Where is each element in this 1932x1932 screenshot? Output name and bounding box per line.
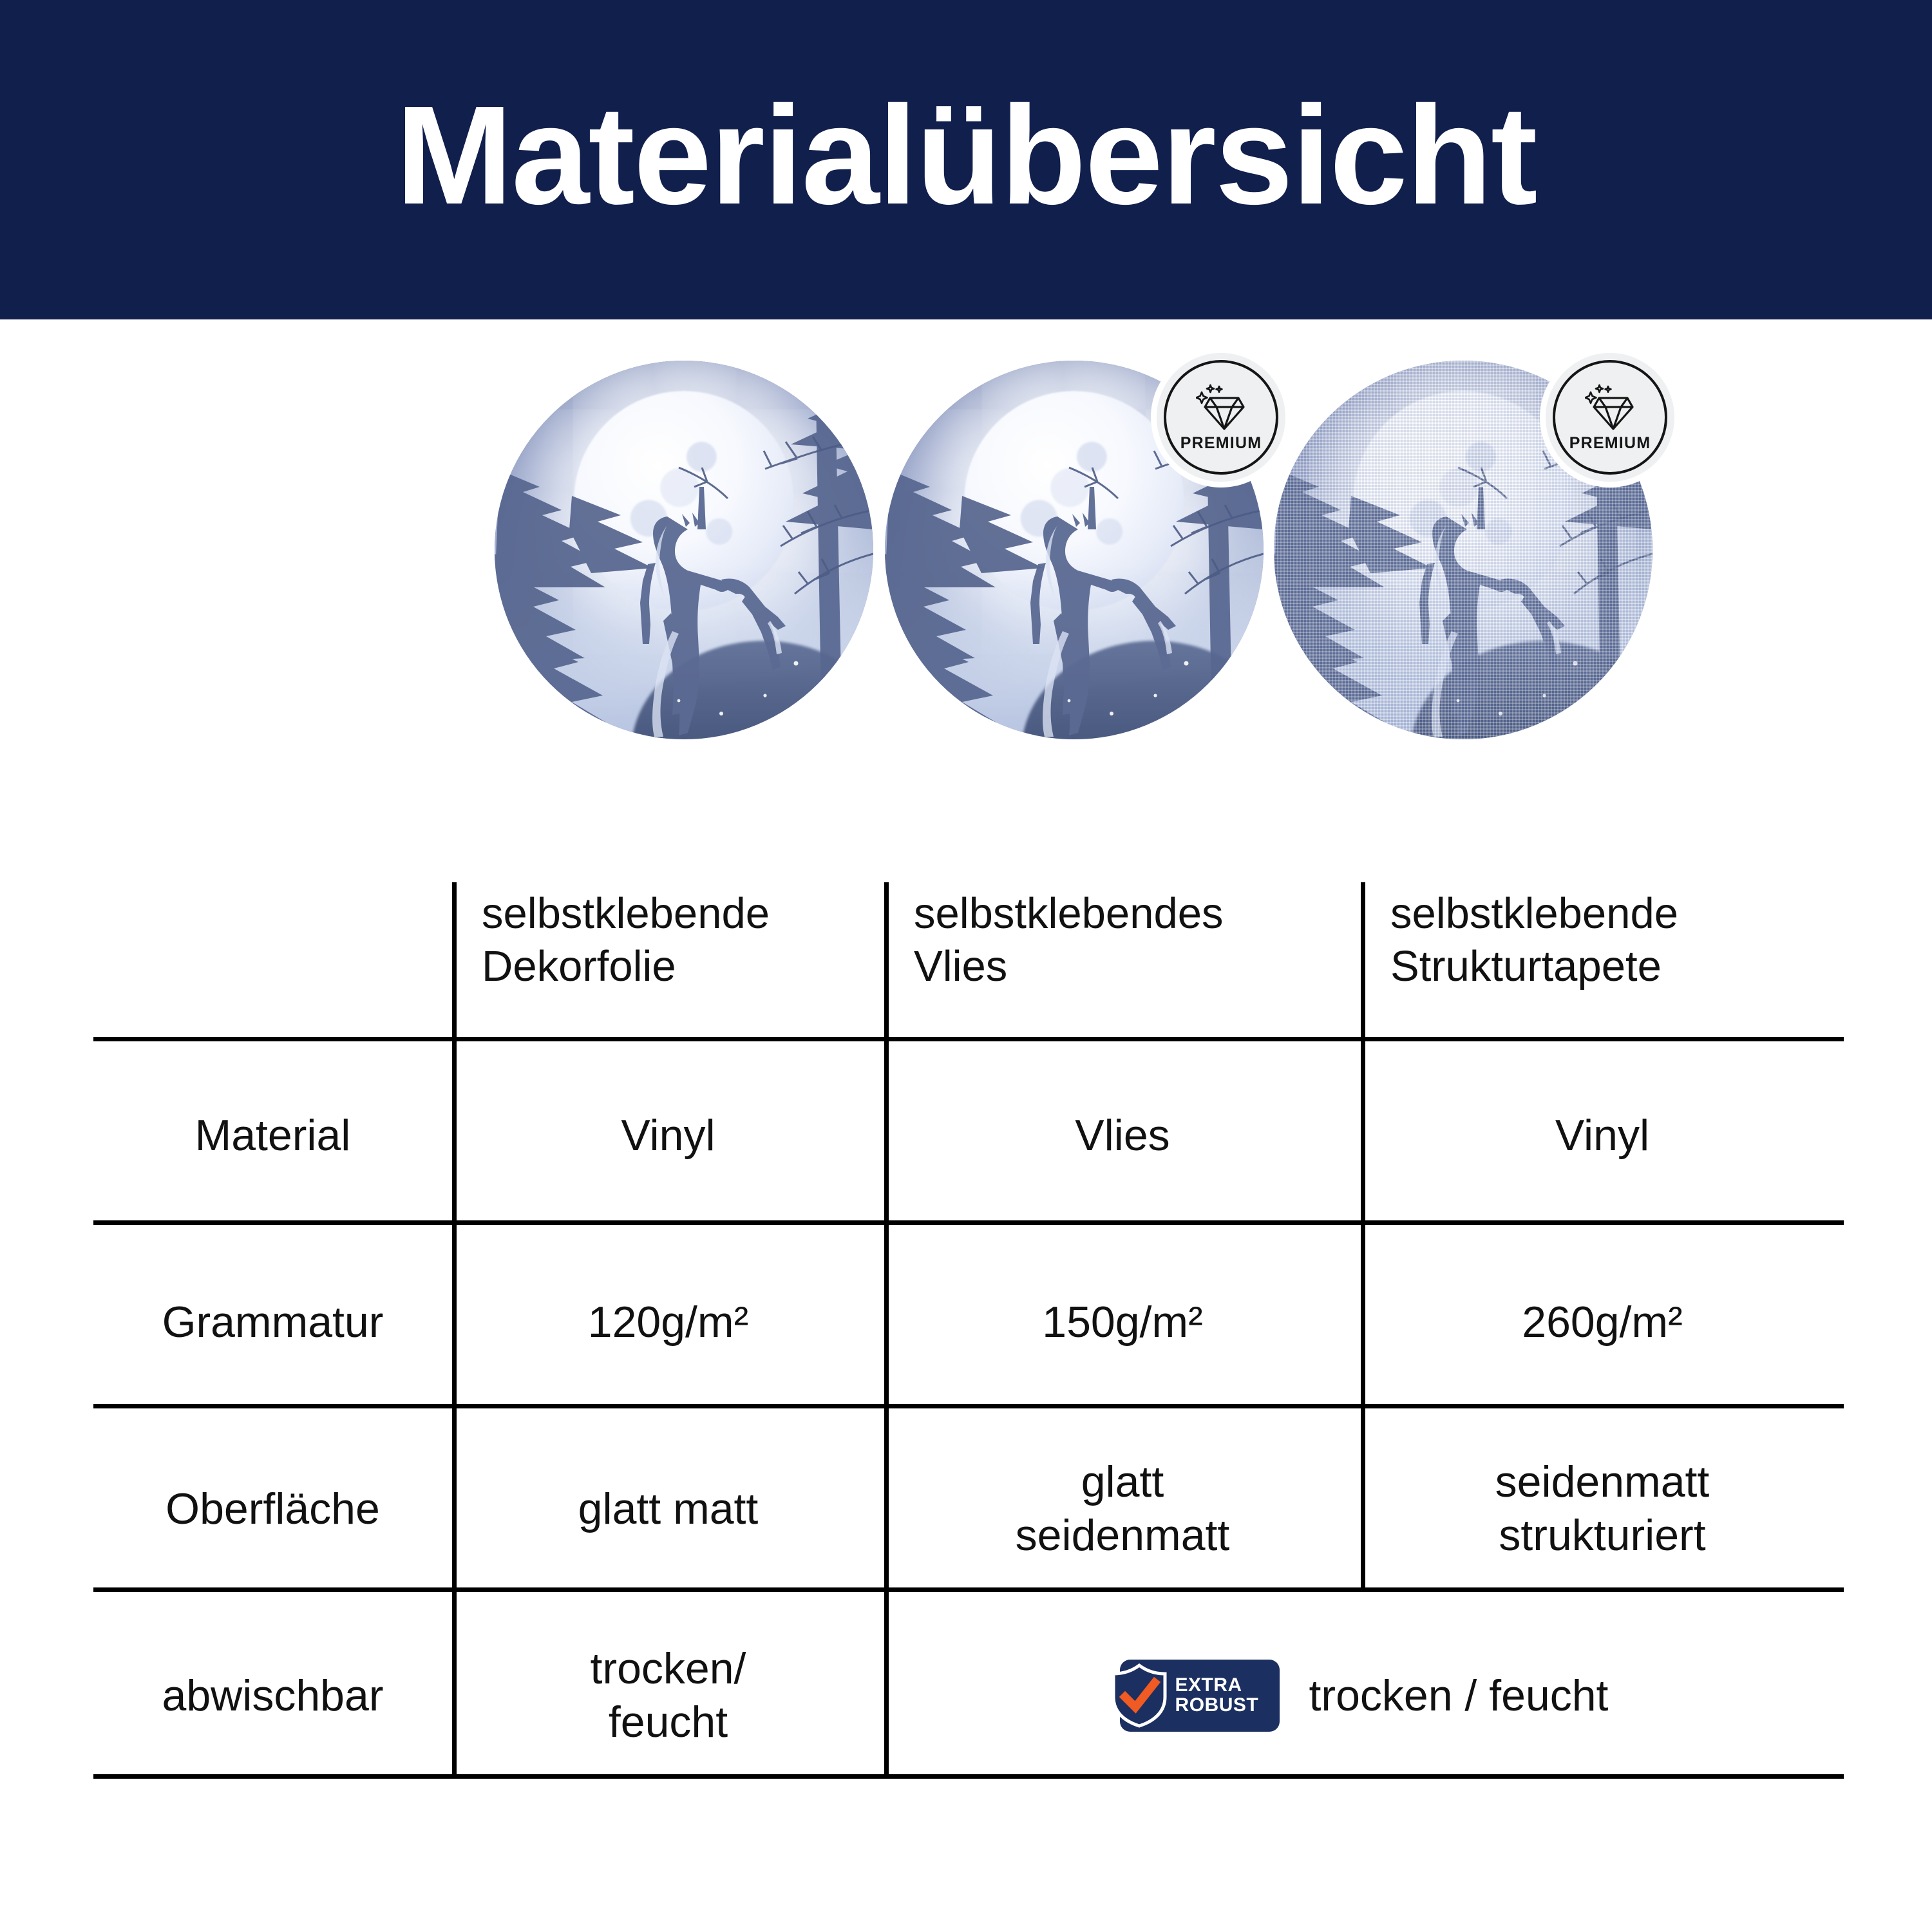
column-divider-1 bbox=[452, 882, 457, 1774]
row-divider-2 bbox=[93, 1404, 1844, 1408]
table-row-material: Material Vinyl Vlies Vinyl bbox=[93, 1042, 1844, 1229]
extra-robust-badge: EXTRA ROBUST bbox=[1120, 1660, 1280, 1732]
premium-badge-label: PREMIUM bbox=[1180, 435, 1262, 451]
row-divider-1 bbox=[93, 1220, 1844, 1225]
column-divider-2 bbox=[884, 882, 889, 1774]
cell-abwischbar-merged: EXTRA ROBUST trocken / feucht bbox=[884, 1602, 1844, 1789]
table-row-oberflaeche: Oberfläche glatt matt glatt seidenmatt s… bbox=[93, 1416, 1844, 1602]
row-divider-3 bbox=[93, 1587, 1844, 1592]
row-label-grammatur: Grammatur bbox=[93, 1229, 452, 1416]
extra-robust-line1: EXTRA bbox=[1175, 1676, 1259, 1696]
material-swatch-strukturtapete[interactable]: PREMIUM bbox=[1274, 361, 1653, 739]
page-header: Materialübersicht bbox=[0, 0, 1932, 319]
cell-grammatur-dekorfolie: 120g/m² bbox=[452, 1229, 884, 1416]
table-header-blank bbox=[93, 882, 452, 1042]
cell-material-strukturtapete: Vinyl bbox=[1361, 1042, 1844, 1229]
premium-badge-label: PREMIUM bbox=[1569, 435, 1651, 451]
cell-oberflaeche-vlies: glatt seidenmatt bbox=[884, 1416, 1361, 1602]
cell-material-vlies: Vlies bbox=[884, 1042, 1361, 1229]
table-header-strukturtapete: selbstklebende Strukturtapete bbox=[1361, 882, 1844, 1042]
premium-badge: PREMIUM bbox=[1157, 353, 1285, 482]
material-swatch-vlies[interactable]: PREMIUM bbox=[885, 361, 1264, 739]
row-divider-header bbox=[93, 1037, 1844, 1041]
material-overview-page: Materialübersicht bbox=[0, 0, 1932, 1932]
shield-check-icon bbox=[1110, 1663, 1169, 1728]
page-title: Materialübersicht bbox=[395, 86, 1536, 226]
row-label-oberflaeche: Oberfläche bbox=[93, 1416, 452, 1602]
table-header-vlies: selbstklebendes Vlies bbox=[884, 882, 1361, 1042]
material-swatch-row: PREMIUM bbox=[0, 361, 1932, 747]
row-divider-bottom bbox=[93, 1774, 1844, 1779]
cell-grammatur-strukturtapete: 260g/m² bbox=[1361, 1229, 1844, 1416]
material-spec-table: selbstklebende Dekorfolie selbstklebende… bbox=[93, 882, 1844, 1789]
material-swatch-dekorfolie[interactable] bbox=[495, 361, 873, 739]
cell-material-dekorfolie: Vinyl bbox=[452, 1042, 884, 1229]
table-row-abwischbar: abwischbar trocken/ feucht EXTRA bbox=[93, 1602, 1844, 1789]
table-header-row: selbstklebende Dekorfolie selbstklebende… bbox=[93, 882, 1844, 1042]
table-row-grammatur: Grammatur 120g/m² 150g/m² 260g/m² bbox=[93, 1229, 1844, 1416]
forest-and-unicorn-silhouette bbox=[495, 361, 873, 739]
column-divider-3 bbox=[1361, 882, 1365, 1587]
row-label-abwischbar: abwischbar bbox=[93, 1602, 452, 1789]
extra-robust-line2: ROBUST bbox=[1175, 1696, 1259, 1716]
cell-abwischbar-dekorfolie: trocken/ feucht bbox=[452, 1602, 884, 1789]
cell-grammatur-vlies: 150g/m² bbox=[884, 1229, 1361, 1416]
cell-oberflaeche-dekorfolie: glatt matt bbox=[452, 1416, 884, 1602]
unicorn-moon-image bbox=[495, 361, 873, 739]
table-header-dekorfolie: selbstklebende Dekorfolie bbox=[452, 882, 884, 1042]
cell-abwischbar-merged-label: trocken / feucht bbox=[1309, 1669, 1609, 1723]
cell-oberflaeche-strukturtapete: seidenmatt strukturiert bbox=[1361, 1416, 1844, 1602]
diamond-icon bbox=[1585, 384, 1635, 433]
diamond-icon bbox=[1196, 384, 1246, 433]
premium-badge: PREMIUM bbox=[1546, 353, 1674, 482]
row-label-material: Material bbox=[93, 1042, 452, 1229]
